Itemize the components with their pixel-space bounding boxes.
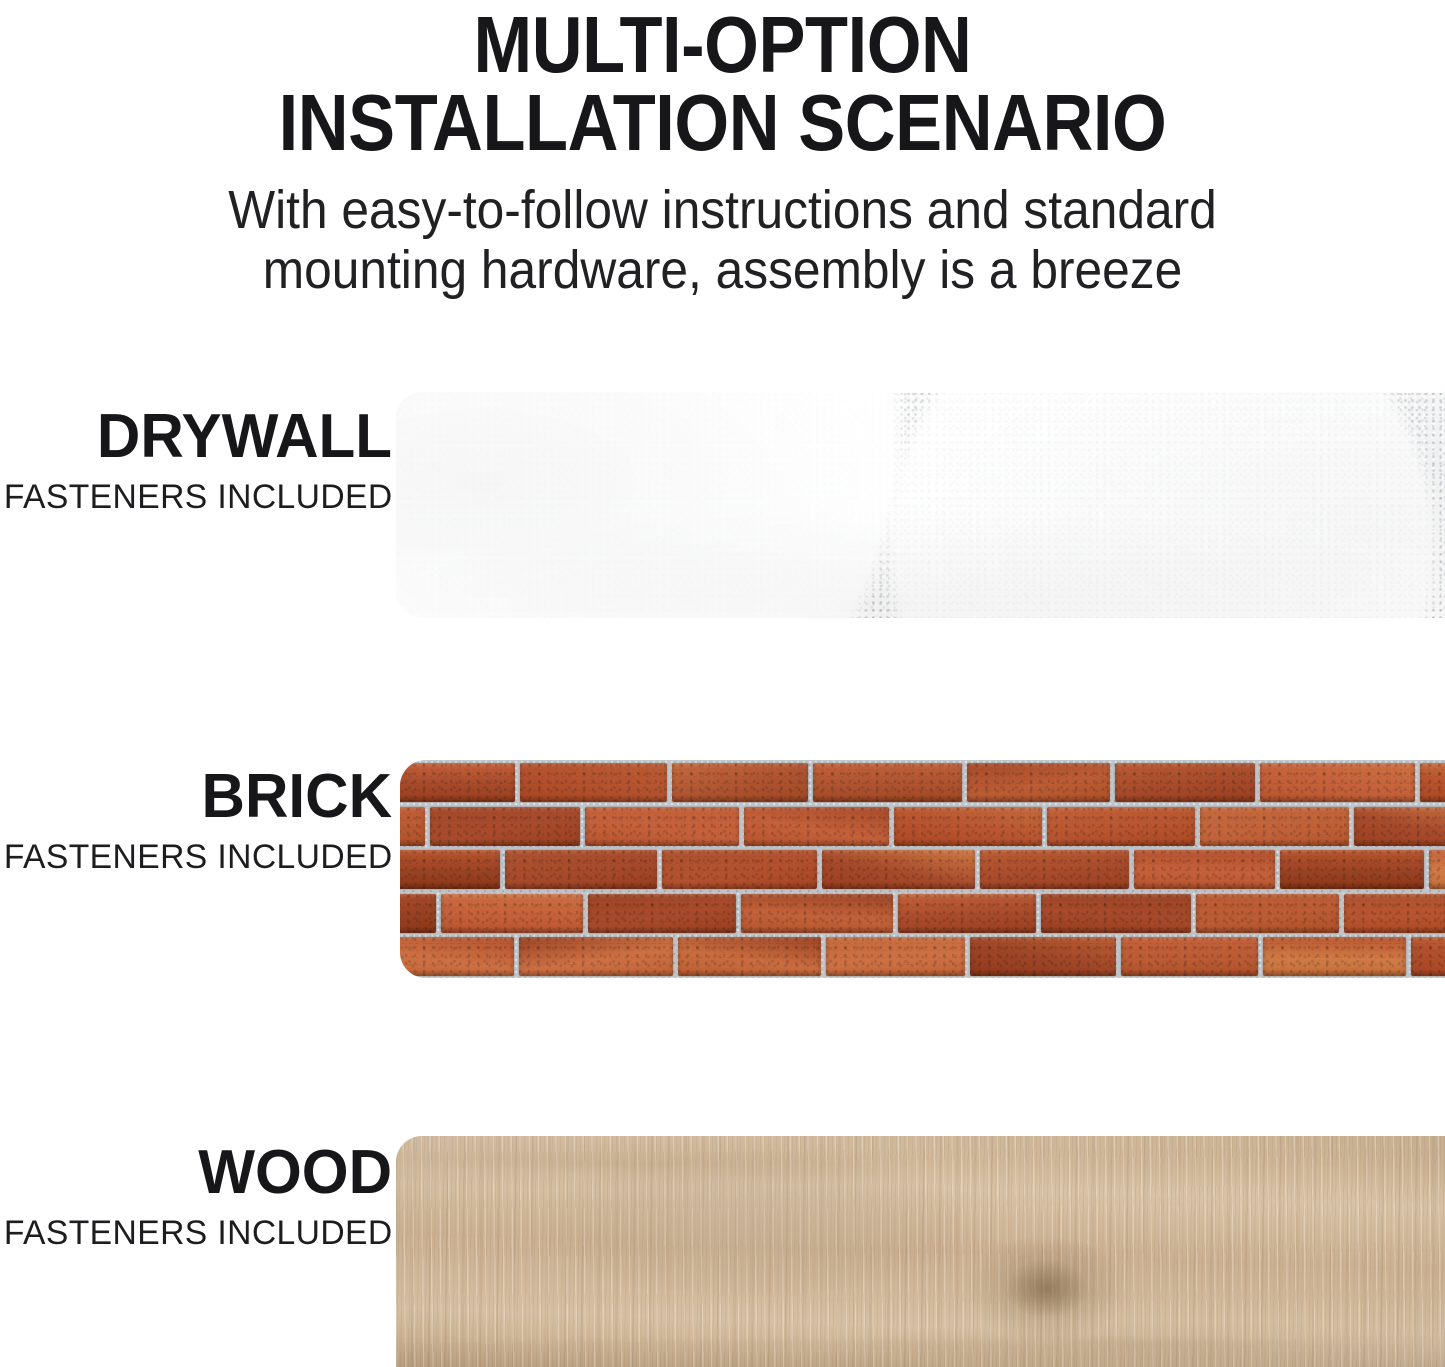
brick-unit xyxy=(741,894,893,933)
brick-unit xyxy=(1121,937,1258,976)
brick-unit xyxy=(662,850,817,889)
fasteners-included-label-drywall: FASTENERS INCLUDED xyxy=(4,478,392,516)
brick-unit xyxy=(400,894,436,933)
brick-unit xyxy=(744,807,889,846)
brick-unit xyxy=(980,850,1129,889)
brick-unit xyxy=(1411,937,1445,976)
brick-unit xyxy=(1200,807,1349,846)
brick-unit xyxy=(441,894,583,933)
brick-unit xyxy=(1260,763,1415,802)
wood-texture-panel xyxy=(396,1136,1445,1367)
fasteners-included-label-brick: FASTENERS INCLUDED xyxy=(4,838,392,876)
brick-unit xyxy=(813,763,962,802)
brick-unit xyxy=(1115,763,1255,802)
brick-unit xyxy=(826,937,965,976)
brick-unit xyxy=(1420,763,1445,802)
brick-unit xyxy=(1429,850,1445,889)
brick-unit xyxy=(967,763,1110,802)
fasteners-included-label-wood: FASTENERS INCLUDED xyxy=(4,1214,392,1252)
brick-unit xyxy=(1196,894,1339,933)
brick-unit xyxy=(585,807,739,846)
brick-unit xyxy=(672,763,808,802)
brick-unit xyxy=(1047,807,1195,846)
wood-label-column: WOOD FASTENERS INCLUDED xyxy=(0,1140,392,1252)
brick-unit xyxy=(1134,850,1275,889)
brick-unit xyxy=(400,937,514,976)
page-title: MULTI-OPTION INSTALLATION SCENARIO xyxy=(87,0,1359,162)
brick-unit xyxy=(1280,850,1424,889)
brick-unit xyxy=(519,937,673,976)
brick-unit xyxy=(678,937,821,976)
brick-unit xyxy=(894,807,1042,846)
brick-grid xyxy=(400,760,1445,978)
brick-unit xyxy=(588,894,736,933)
brick-unit xyxy=(898,894,1036,933)
section-drywall: DRYWALL FASTENERS INCLUDED xyxy=(0,392,1445,622)
brick-unit xyxy=(400,850,500,889)
brick-unit xyxy=(505,850,657,889)
drywall-shading-overlay xyxy=(396,392,1445,618)
brick-unit xyxy=(520,763,667,802)
drywall-label-column: DRYWALL FASTENERS INCLUDED xyxy=(0,404,392,516)
header: MULTI-OPTION INSTALLATION SCENARIO With … xyxy=(0,0,1445,300)
infographic-root: MULTI-OPTION INSTALLATION SCENARIO With … xyxy=(0,0,1445,1367)
section-brick: BRICK FASTENERS INCLUDED xyxy=(0,760,1445,980)
brick-label-column: BRICK FASTENERS INCLUDED xyxy=(0,764,392,876)
brick-unit xyxy=(822,850,975,889)
brick-unit xyxy=(1041,894,1191,933)
brick-unit xyxy=(1354,807,1445,846)
surface-name-wood: WOOD xyxy=(12,1140,392,1206)
brick-unit xyxy=(400,763,515,802)
brick-texture-panel xyxy=(400,760,1445,978)
page-subtitle: With easy-to-follow instructions and sta… xyxy=(58,180,1387,300)
brick-unit xyxy=(1263,937,1406,976)
brick-unit xyxy=(1344,894,1445,933)
brick-unit xyxy=(970,937,1116,976)
section-wood: WOOD FASTENERS INCLUDED xyxy=(0,1136,1445,1367)
brick-unit xyxy=(400,807,425,846)
brick-unit xyxy=(430,807,580,846)
surface-name-drywall: DRYWALL xyxy=(12,404,392,470)
wood-shading-overlay xyxy=(396,1136,1445,1367)
drywall-texture-panel xyxy=(396,392,1445,618)
surface-name-brick: BRICK xyxy=(12,764,392,830)
